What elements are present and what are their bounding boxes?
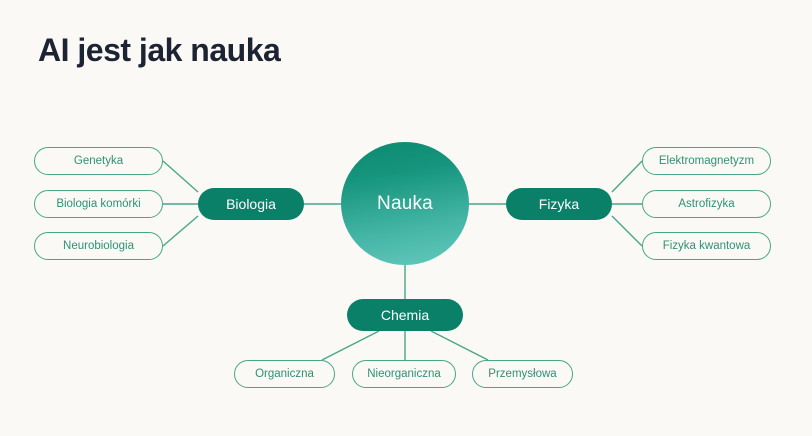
edge-biologia-genetyka — [163, 161, 198, 192]
node-leaf-label: Astrofizyka — [678, 198, 734, 210]
node-branch-label: Fizyka — [539, 196, 579, 212]
edge-chemia-organiczna — [322, 331, 379, 360]
node-branch-fizyka[interactable]: Fizyka — [506, 188, 612, 220]
node-branch-chemia[interactable]: Chemia — [347, 299, 463, 331]
node-root-nauka[interactable]: Nauka — [341, 142, 469, 265]
node-leaf-organiczna[interactable]: Organiczna — [234, 360, 335, 388]
node-leaf-neurobiologia[interactable]: Neurobiologia — [34, 232, 163, 260]
node-branch-biologia[interactable]: Biologia — [198, 188, 304, 220]
node-leaf-biologia-komorki[interactable]: Biologia komórki — [34, 190, 163, 218]
node-leaf-przemyslowa[interactable]: Przemysłowa — [472, 360, 573, 388]
node-leaf-label: Genetyka — [74, 155, 123, 167]
node-leaf-label: Neurobiologia — [63, 240, 134, 252]
node-leaf-astrofizyka[interactable]: Astrofizyka — [642, 190, 771, 218]
node-leaf-label: Fizyka kwantowa — [663, 240, 751, 252]
node-leaf-label: Elektromagnetyzm — [659, 155, 754, 167]
node-leaf-elektromagnetyzm[interactable]: Elektromagnetyzm — [642, 147, 771, 175]
edge-fizyka-fizyka-kwantowa — [612, 216, 642, 246]
node-leaf-label: Biologia komórki — [56, 198, 140, 210]
node-leaf-nieorganiczna[interactable]: Nieorganiczna — [352, 360, 456, 388]
node-leaf-label: Przemysłowa — [488, 368, 556, 380]
node-branch-label: Biologia — [226, 196, 276, 212]
edge-fizyka-elektromagnetyzm — [612, 161, 642, 192]
node-leaf-label: Nieorganiczna — [367, 368, 441, 380]
node-leaf-genetyka[interactable]: Genetyka — [34, 147, 163, 175]
edge-chemia-przemyslowa — [431, 331, 488, 360]
node-branch-label: Chemia — [381, 307, 429, 323]
node-leaf-label: Organiczna — [255, 368, 314, 380]
mindmap-diagram: Nauka Biologia Fizyka Chemia Genetyka Bi… — [0, 0, 812, 436]
node-leaf-fizyka-kwantowa[interactable]: Fizyka kwantowa — [642, 232, 771, 260]
edge-biologia-neurobiologia — [163, 216, 198, 246]
node-root-label: Nauka — [377, 193, 433, 215]
